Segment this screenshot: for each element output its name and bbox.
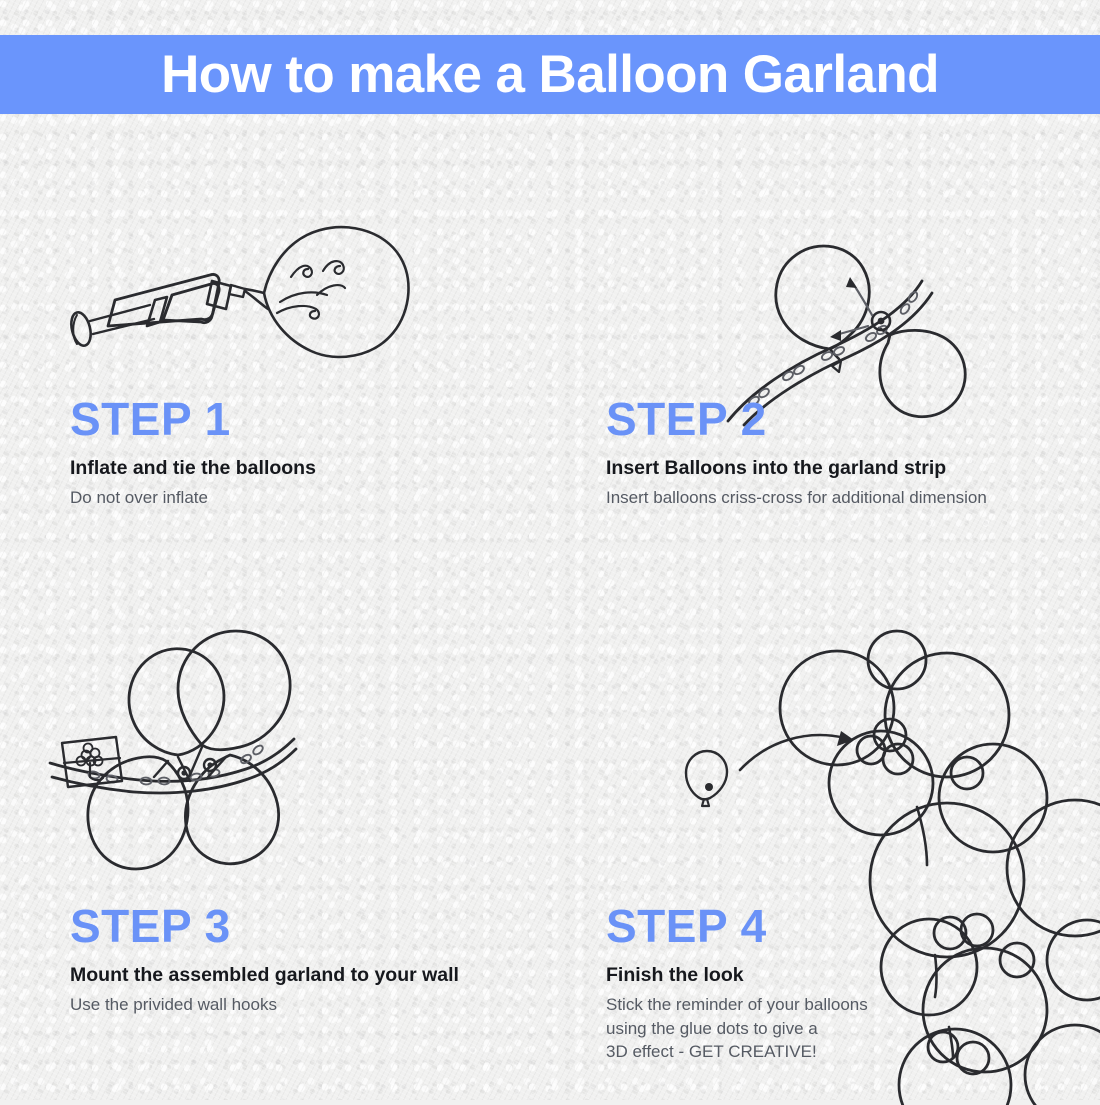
step-3-description: Use the privided wall hooks (70, 993, 459, 1016)
balloon-cluster-wall-hook-icon (50, 595, 370, 895)
step-4-description: Stick the reminder of your balloons usin… (606, 993, 868, 1063)
step-1-illustration (55, 185, 425, 385)
step-3-label: STEP 3 (70, 903, 459, 949)
step-3-illustration (50, 595, 370, 895)
step-2-title: Insert Balloons into the garland strip (606, 456, 987, 480)
step-3-title: Mount the assembled garland to your wall (70, 963, 459, 987)
step-3-text-block: STEP 3 Mount the assembled garland to yo… (70, 903, 459, 1017)
page-title: How to make a Balloon Garland (161, 48, 939, 101)
step-2-text-block: STEP 2 Insert Balloons into the garland … (606, 396, 987, 510)
step-2-description: Insert balloons criss-cross for addition… (606, 486, 987, 509)
header-banner: How to make a Balloon Garland (0, 35, 1100, 114)
step-4-title: Finish the look (606, 963, 868, 987)
step-4-text-block: STEP 4 Finish the look Stick the reminde… (606, 903, 868, 1063)
step-2-label: STEP 2 (606, 396, 987, 442)
step-1-label: STEP 1 (70, 396, 316, 442)
hand-pump-inflating-balloon-icon (55, 185, 425, 385)
step-1-title: Inflate and tie the balloons (70, 456, 316, 480)
step-4-label: STEP 4 (606, 903, 868, 949)
step-1-text-block: STEP 1 Inflate and tie the balloons Do n… (70, 396, 316, 510)
step-1-description: Do not over inflate (70, 486, 316, 509)
